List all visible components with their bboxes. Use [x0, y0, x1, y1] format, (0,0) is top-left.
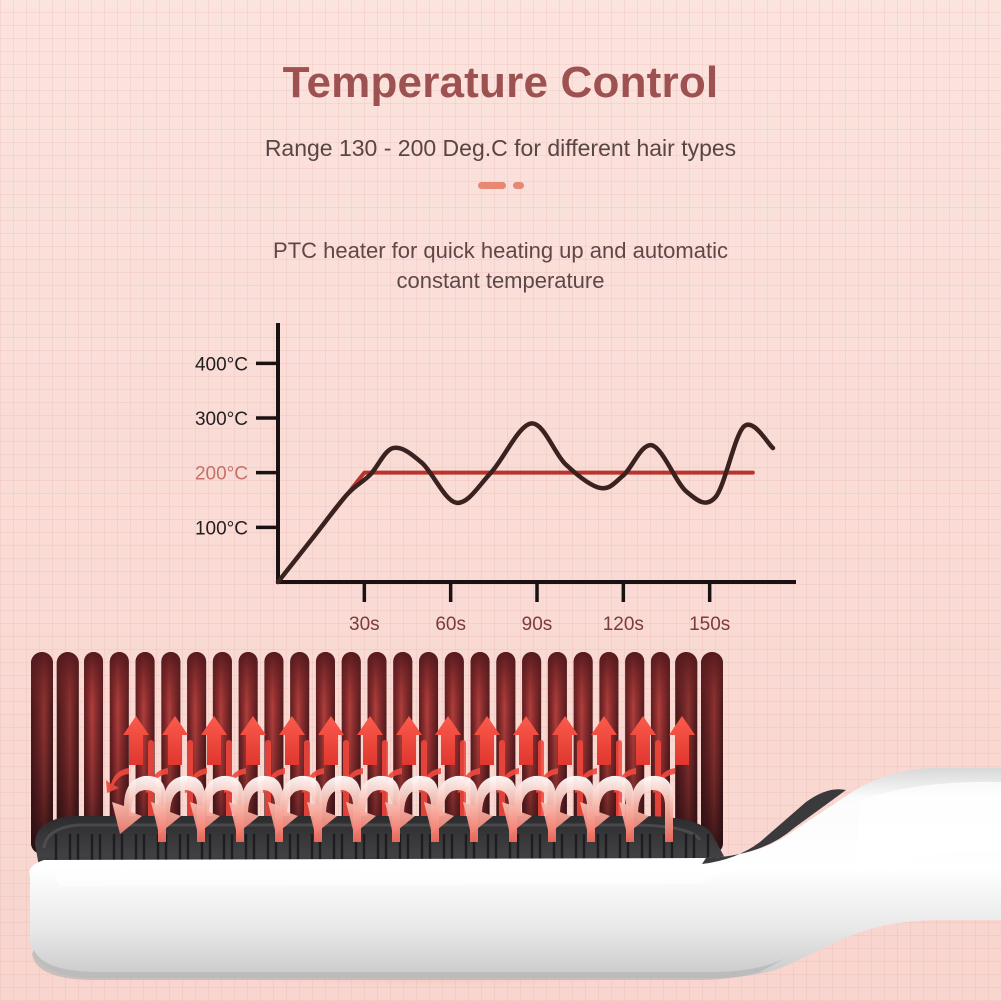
divider-dash-short: [513, 182, 524, 189]
divider-dash-long: [478, 182, 506, 189]
feature-description-line-2: constant temperature: [0, 266, 1001, 296]
x-axis-ticks: [364, 582, 709, 602]
y-tick-label-200°C: 200°C: [195, 464, 248, 485]
y-tick-label-400°C: 400°C: [195, 354, 248, 375]
product-svg: [0, 620, 1001, 1001]
temperature-chart-svg: 100°C200°C300°C400°C 30s60s90s120s150s: [180, 318, 820, 648]
temperature-chart: 100°C200°C300°C400°C 30s60s90s120s150s: [180, 318, 820, 648]
y-axis-tick-labels: 100°C200°C300°C400°C: [195, 354, 248, 539]
product-illustration: [0, 620, 1001, 1001]
y-tick-label-100°C: 100°C: [195, 518, 248, 539]
page-title: Temperature Control: [0, 58, 1001, 108]
feature-description: PTC heater for quick heating up and auto…: [0, 236, 1001, 296]
page-subtitle: Range 130 - 200 Deg.C for different hair…: [0, 135, 1001, 162]
feature-description-line-1: PTC heater for quick heating up and auto…: [0, 236, 1001, 266]
product-infographic: Temperature Control Range 130 - 200 Deg.…: [0, 0, 1001, 1001]
dash-divider: [0, 182, 1001, 189]
y-axis-ticks: [256, 363, 278, 527]
y-tick-label-300°C: 300°C: [195, 409, 248, 430]
temperature-curve-series: [278, 423, 773, 582]
brush-rib-shade: [701, 652, 723, 854]
